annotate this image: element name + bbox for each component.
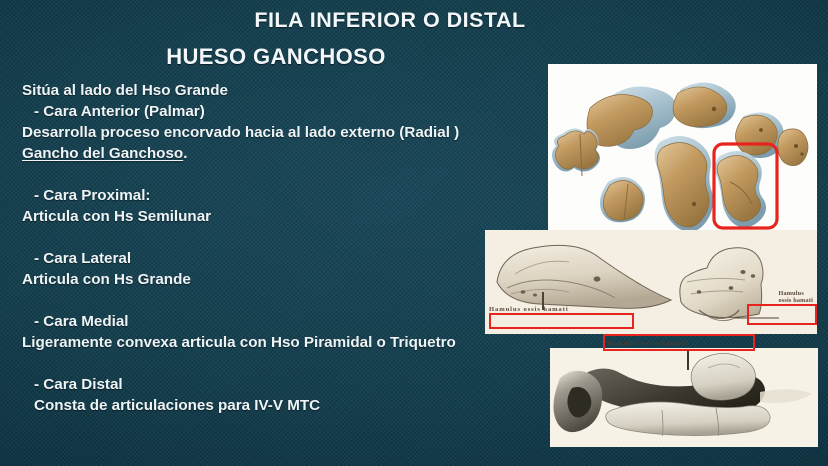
- body-text-line: Articula con Hs Semilunar: [22, 206, 552, 227]
- figure-hamate-photo: [550, 348, 818, 447]
- body-text-spacer: [22, 227, 552, 248]
- label-highlight-box-mid-left: [489, 313, 634, 329]
- body-text-line: - Cara Lateral: [22, 248, 552, 269]
- body-text-line: Gancho del Ganchoso.: [22, 143, 552, 164]
- body-text-spacer: [22, 164, 552, 185]
- body-text-block: Sitúa al lado del Hso Grande- Cara Anter…: [22, 80, 552, 416]
- slide-canvas: FILA INFERIOR O DISTAL HUESO GANCHOSO Si…: [0, 0, 828, 466]
- body-text-line: - Cara Medial: [22, 311, 552, 332]
- body-text-line: - Cara Anterior (Palmar): [22, 101, 552, 122]
- body-text-emphasis: Gancho del Ganchoso: [22, 145, 183, 162]
- carpal-bones-illustration: [548, 64, 817, 230]
- label-highlight-box-mid-right: [747, 304, 817, 325]
- body-text-spacer: [22, 353, 552, 374]
- hamate-photo-illustration: [550, 348, 818, 447]
- label-highlight-box-bottom: [603, 334, 755, 351]
- figure-carpal-bones-color: [548, 64, 817, 230]
- body-text-line: Articula con Hs Grande: [22, 269, 552, 290]
- slide-title-main: FILA INFERIOR O DISTAL: [0, 8, 780, 33]
- slide-title-sub: HUESO GANCHOSO: [0, 44, 552, 70]
- body-text-line: Ligeramente convexa articula con Hso Pir…: [22, 332, 552, 353]
- body-text-line: Consta de articulaciones para IV-V MTC: [22, 395, 552, 416]
- body-text-spacer: [22, 290, 552, 311]
- body-text-line: - Cara Proximal:: [22, 185, 552, 206]
- body-text-line: Sitúa al lado del Hso Grande: [22, 80, 552, 101]
- body-text-line: - Cara Distal: [22, 374, 552, 395]
- body-text-line: Desarrolla proceso encorvado hacia al la…: [22, 122, 552, 143]
